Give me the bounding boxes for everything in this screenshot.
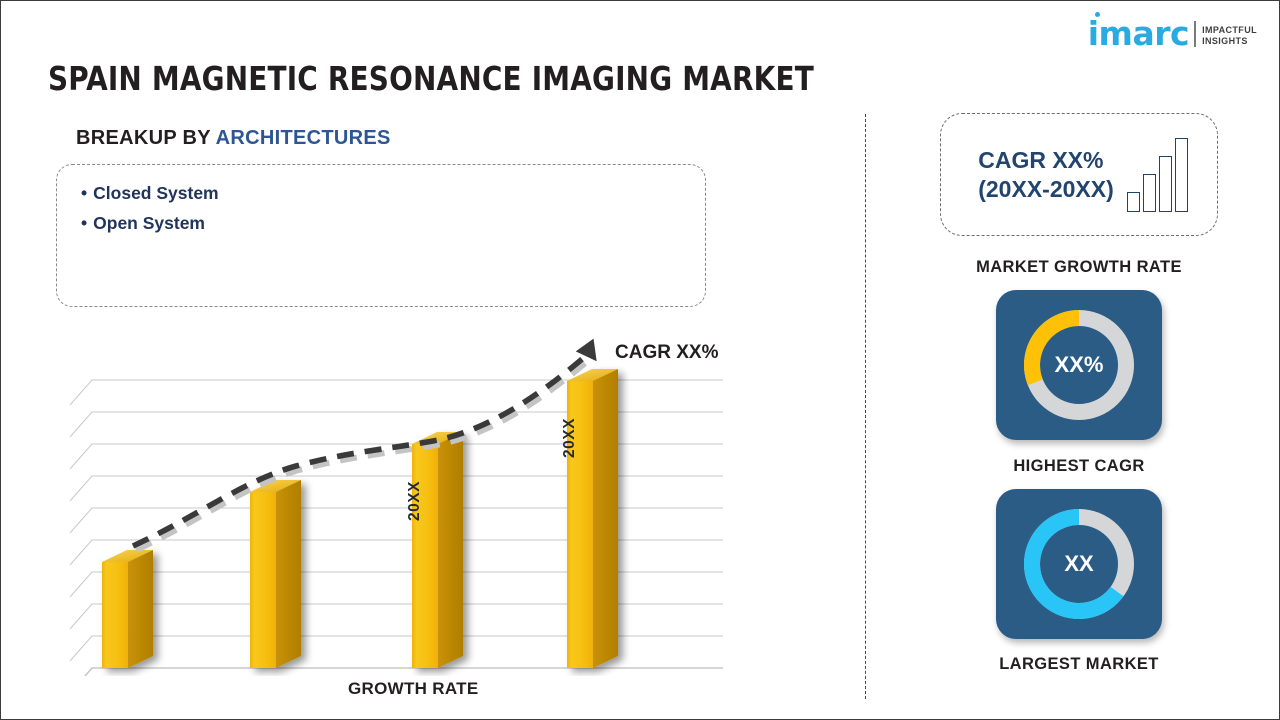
list-item: •Closed System [81,178,705,208]
chart-svg [48,331,748,676]
column-divider [865,114,866,699]
trend-line [133,334,606,550]
highest-cagr-caption: HIGHEST CAGR [901,457,1257,476]
largest-market-caption: LARGEST MARKET [901,655,1257,674]
breakup-label: BREAKUP BY [76,127,211,149]
breakup-dimension: ARCHITECTURES [216,127,391,149]
logo-tagline: IMPACTFUL INSIGHTS [1202,25,1257,47]
bar-4-year-label: 20XX [561,432,579,458]
chart-x-axis-label: GROWTH RATE [348,679,478,699]
growth-rate-bar-chart: 20XX 20XX CAGR XX% GROWTH RATE [48,331,748,706]
list-item-label: Open System [93,213,205,233]
logo-tagline-line1: IMPACTFUL [1202,25,1257,36]
chart-cagr-annotation: CAGR XX% [615,342,718,364]
cagr-value: CAGR XX% [978,146,1114,175]
logo-divider [1194,21,1196,47]
bar-1 [102,550,153,668]
logo-wordmark: imarc [1088,19,1189,49]
page-title: SPAIN MAGNETIC RESONANCE IMAGING MARKET [48,59,814,98]
bullet-icon: • [81,213,87,233]
largest-market-value: XX [996,551,1162,577]
logo-dot-icon [1095,12,1100,17]
bar-3-year-label: 20XX [406,495,424,521]
breakup-heading: BREAKUP BY ARCHITECTURES [76,127,391,150]
bar-chart-icon [1127,138,1188,212]
logo-wordmark-text: imarc [1088,14,1189,53]
list-item-label: Closed System [93,183,218,203]
largest-market-tile-wrap: XX LARGEST MARKET [901,489,1257,674]
market-growth-rate-caption: MARKET GROWTH RATE [901,258,1257,277]
bullet-icon: • [81,183,87,203]
slide-canvas: imarc IMPACTFUL INSIGHTS SPAIN MAGNETIC … [0,0,1280,720]
logo-tagline-line2: INSIGHTS [1202,36,1257,47]
highest-cagr-tile: XX% [996,290,1162,440]
cagr-period: (20XX-20XX) [978,175,1114,204]
bar-3 [412,432,463,668]
bar-2 [250,480,301,668]
cagr-text: CAGR XX% (20XX-20XX) [978,146,1114,204]
highest-cagr-value: XX% [996,352,1162,378]
kpi-column: CAGR XX% (20XX-20XX) MARKET GROWTH RATE … [901,113,1257,674]
bar-4 [567,369,618,668]
segment-list-box: •Closed System •Open System [56,164,706,307]
list-item: •Open System [81,208,705,238]
imarc-logo: imarc IMPACTFUL INSIGHTS [1088,15,1257,49]
highest-cagr-tile-wrap: XX% HIGHEST CAGR [901,290,1257,476]
largest-market-tile: XX [996,489,1162,639]
market-growth-rate-card: CAGR XX% (20XX-20XX) [940,113,1218,236]
chart-baseline [70,668,723,676]
